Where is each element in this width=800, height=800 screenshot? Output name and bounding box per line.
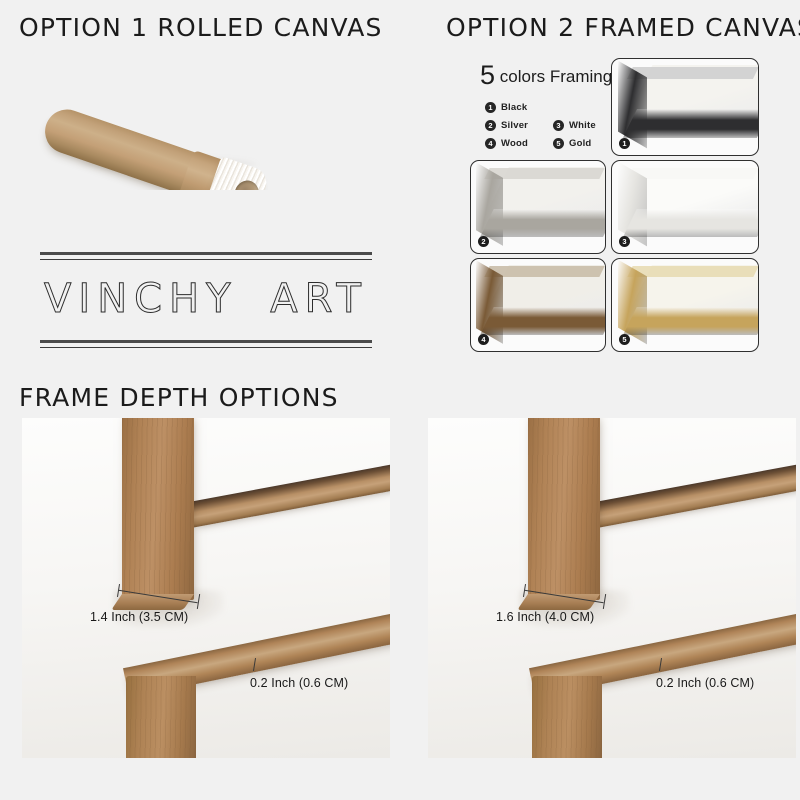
frame-vertical-profile: [528, 418, 600, 600]
legend-item-black[interactable]: 1 Black: [485, 102, 553, 113]
tube-illustration: [38, 90, 268, 190]
badge-4-icon: 4: [485, 138, 496, 149]
legend-label-gold: Gold: [569, 138, 591, 149]
frame-front-rail: [623, 209, 759, 237]
frame-upper-rail: [594, 460, 796, 527]
legend-row: 1 Black: [485, 102, 625, 113]
frame-thumbnail-black[interactable]: 1: [611, 58, 759, 156]
frame-front-rail: [623, 307, 759, 335]
brand-logo: VINCHY ART: [40, 252, 372, 348]
frame-thumbnail-white[interactable]: 3: [611, 160, 759, 254]
logo-rule-bottom: [40, 340, 372, 348]
frame-badge-1-icon: 1: [619, 138, 630, 149]
infographic-page: OPTION 1 ROLLED CANVAS VINCHY ART OPTION…: [0, 0, 800, 800]
framing-options-panel: 5 colors Framing 1 Black 2 Silver 3 Whit…: [470, 56, 758, 354]
frame-thumbnail-silver[interactable]: 2: [470, 160, 606, 254]
rolled-canvas-photo: [38, 72, 268, 190]
frame-front-rail: [622, 109, 759, 138]
frame-front-rail: [480, 307, 606, 335]
badge-3-icon: 3: [553, 120, 564, 131]
badge-1-icon: 1: [485, 102, 496, 113]
frame-thumbnail-wood[interactable]: 4: [470, 258, 606, 352]
frame-corner-art: [612, 259, 758, 351]
legend-item-silver[interactable]: 2 Silver: [485, 120, 553, 131]
frame-vertical-base: [517, 594, 600, 610]
thickness-label: 0.2 Inch (0.6 CM): [250, 676, 348, 690]
frame-vertical-base: [111, 594, 194, 610]
frame-corner-art: [471, 259, 605, 351]
option2-heading: OPTION 2 FRAMED CANVAS: [446, 13, 800, 42]
framing-title: 5 colors Framing: [480, 60, 612, 91]
frame-badge-4-icon: 4: [478, 334, 489, 345]
badge-2-icon: 2: [485, 120, 496, 131]
legend-row: 4 Wood 5 Gold: [485, 138, 625, 149]
frame-front-rail: [480, 209, 606, 237]
depth-label: 1.4 Inch (3.5 CM): [90, 610, 188, 624]
tube-body: [39, 104, 203, 190]
logo-rule-thick-top: [40, 252, 372, 255]
depth-label: 1.6 Inch (4.0 CM): [496, 610, 594, 624]
thickness-label: 0.2 Inch (0.6 CM): [656, 676, 754, 690]
logo-rule-thin-bottom: [40, 347, 372, 348]
frame-vertical-profile: [122, 418, 194, 600]
frame-badge-3-icon: 3: [619, 236, 630, 247]
color-legend: 1 Black 2 Silver 3 White 4 Wood: [485, 102, 625, 156]
framing-title-rest: colors Framing: [495, 67, 612, 86]
brand-word-1: VINCHY: [44, 276, 238, 322]
legend-row: 2 Silver 3 White: [485, 120, 625, 131]
frame-corner-art: [471, 161, 605, 253]
legend-label-silver: Silver: [501, 120, 528, 131]
frame-lower-vertical: [532, 676, 602, 758]
legend-label-black: Black: [501, 102, 527, 113]
logo-rule-thick-bottom: [40, 340, 372, 343]
frame-depth-heading: FRAME DEPTH OPTIONS: [19, 383, 339, 412]
frame-depth-photo-1: 1.4 Inch (3.5 CM) 0.2 Inch (0.6 CM): [22, 418, 390, 758]
brand-word-2: ART: [270, 276, 368, 322]
framing-count: 5: [480, 60, 495, 90]
legend-label-wood: Wood: [501, 138, 528, 149]
frame-corner-art: [612, 161, 758, 253]
option1-heading: OPTION 1 ROLLED CANVAS: [19, 13, 383, 42]
frame-badge-5-icon: 5: [619, 334, 630, 345]
frame-badge-2-icon: 2: [478, 236, 489, 247]
frame-depth-photo-2: 1.6 Inch (4.0 CM) 0.2 Inch (0.6 CM): [428, 418, 796, 758]
legend-label-white: White: [569, 120, 596, 131]
frame-upper-rail: [188, 460, 390, 527]
legend-item-wood[interactable]: 4 Wood: [485, 138, 553, 149]
logo-rule-thin-top: [40, 259, 372, 260]
frame-corner-art: [612, 59, 758, 155]
badge-5-icon: 5: [553, 138, 564, 149]
frame-thumbnail-gold[interactable]: 5: [611, 258, 759, 352]
logo-rule-top: [40, 252, 372, 260]
brand-name: VINCHY ART: [40, 276, 372, 322]
frame-lower-vertical: [126, 676, 196, 758]
